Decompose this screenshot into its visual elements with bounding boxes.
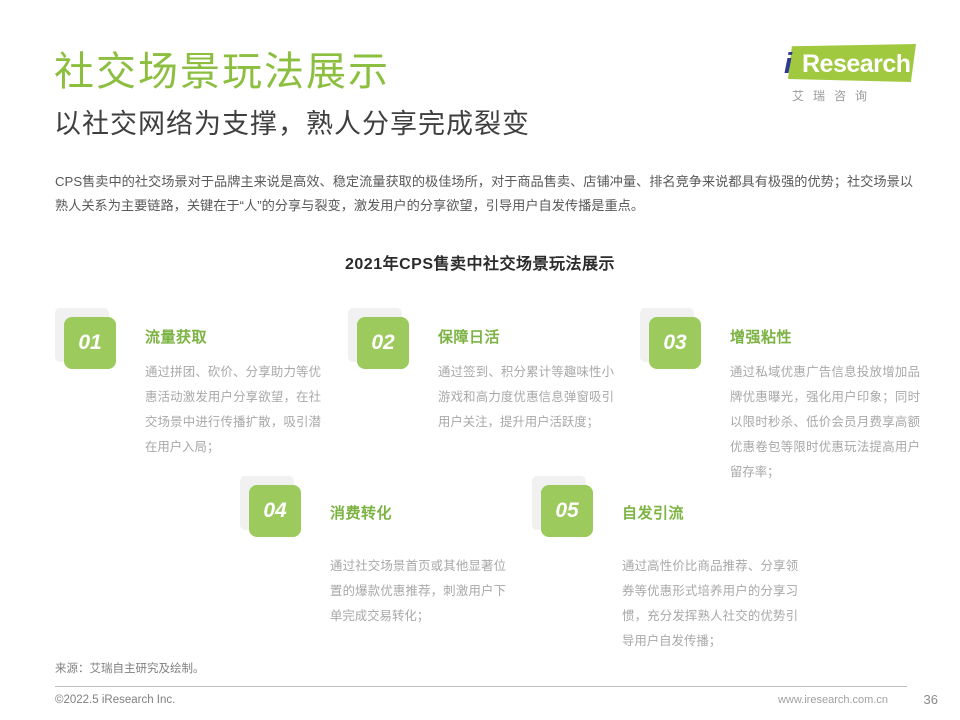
- card-heading: 消费转化: [330, 504, 440, 524]
- card-body-text: 通过签到、积分累计等趣味性小游戏和高力度优惠信息弹窗吸引用户关注，提升用户活跃度…: [438, 360, 614, 435]
- cards-container: 01 流量获取 通过拼团、砍价、分享助力等优惠活动激发用户分享欲望，在社交场景中…: [0, 300, 960, 660]
- page-title: 社交场景玩法展示: [54, 46, 390, 98]
- copyright-text: ©2022.5 iResearch Inc.: [55, 694, 175, 706]
- card-heading: 保障日活: [438, 328, 548, 348]
- iresearch-logo: i Research 艾瑞咨询: [778, 44, 930, 106]
- figure-title: 2021年CPS售卖中社交场景玩法展示: [0, 250, 960, 274]
- logo-mark: i Research: [778, 44, 918, 84]
- card-heading: 自发引流: [622, 504, 732, 524]
- page-number: 36: [924, 692, 938, 707]
- page-subtitle: 以社交网络为支撑，熟人分享完成裂变: [54, 106, 530, 142]
- footer-divider: [55, 686, 907, 687]
- card-body-text: 通过社交场景首页或其他显著位置的爆款优惠推荐，刺激用户下单完成交易转化；: [330, 554, 506, 629]
- card-number-badge: 04: [249, 485, 301, 537]
- card-badge-wrap: 05: [532, 476, 594, 538]
- card-body-text: 通过私域优惠广告信息投放增加品牌优惠曝光，强化用户印象；同时以限时秒杀、低价会员…: [730, 360, 920, 485]
- card-heading: 流量获取: [145, 328, 255, 348]
- intro-paragraph: CPS售卖中的社交场景对于品牌主来说是高效、稳定流量获取的极佳场所，对于商品售卖…: [55, 170, 913, 218]
- card-number-badge: 02: [357, 317, 409, 369]
- card-number-badge: 05: [541, 485, 593, 537]
- card-item: 02 保障日活 通过签到、积分累计等趣味性小游戏和高力度优惠信息弹窗吸引用户关注…: [348, 308, 548, 435]
- website-url: www.iresearch.com.cn: [778, 694, 888, 706]
- card-body-text: 通过高性价比商品推荐、分享领券等优惠形式培养用户的分享习惯，充分发挥熟人社交的优…: [622, 554, 798, 654]
- card-body-text: 通过拼团、砍价、分享助力等优惠活动激发用户分享欲望，在社交场景中进行传播扩散，吸…: [145, 360, 321, 460]
- card-item: 01 流量获取 通过拼团、砍价、分享助力等优惠活动激发用户分享欲望，在社交场景中…: [55, 308, 255, 460]
- card-item: 05 自发引流 通过高性价比商品推荐、分享领券等优惠形式培养用户的分享习惯，充分…: [532, 476, 732, 654]
- card-heading: 增强粘性: [730, 328, 850, 348]
- card-item: 03 增强粘性 通过私域优惠广告信息投放增加品牌优惠曝光，强化用户印象；同时以限…: [640, 308, 850, 485]
- logo-letter-i: i: [784, 47, 791, 81]
- card-number-badge: 01: [64, 317, 116, 369]
- card-number-badge: 03: [649, 317, 701, 369]
- slide-root: i Research 艾瑞咨询 社交场景玩法展示 以社交网络为支撑，熟人分享完成…: [0, 0, 960, 720]
- card-badge-wrap: 02: [348, 308, 410, 370]
- card-badge-wrap: 04: [240, 476, 302, 538]
- logo-wordmark: Research: [802, 48, 911, 80]
- card-item: 04 消费转化 通过社交场景首页或其他显著位置的爆款优惠推荐，刺激用户下单完成交…: [240, 476, 440, 629]
- source-note: 来源：艾瑞自主研究及绘制。: [55, 660, 205, 676]
- card-badge-wrap: 01: [55, 308, 117, 370]
- card-badge-wrap: 03: [640, 308, 702, 370]
- logo-chinese-name: 艾瑞咨询: [792, 87, 930, 104]
